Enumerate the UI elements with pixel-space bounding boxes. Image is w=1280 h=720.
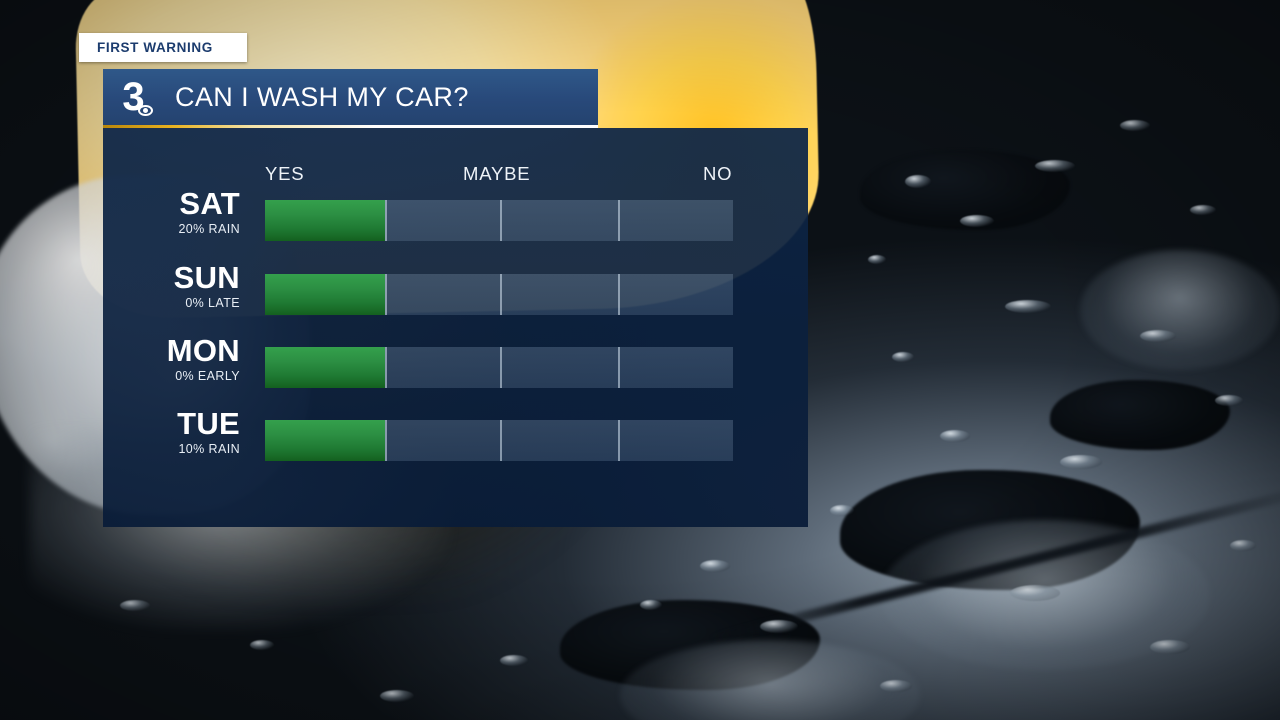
day-label: SUN 0% LATE bbox=[103, 262, 240, 310]
day-name: MON bbox=[103, 335, 240, 366]
page-title: CAN I WASH MY CAR? bbox=[175, 82, 469, 113]
day-label: SAT 20% RAIN bbox=[103, 188, 240, 236]
answer-bar-yes bbox=[265, 200, 385, 241]
column-divider bbox=[500, 274, 502, 315]
day-name: TUE bbox=[103, 408, 240, 439]
forecast-row: MON 0% EARLY bbox=[103, 347, 808, 388]
forecast-panel: YES MAYBE NO SAT 20% RAIN SUN 0% LATE bbox=[103, 128, 808, 527]
first-warning-label: FIRST WARNING bbox=[97, 40, 213, 55]
column-divider bbox=[618, 200, 620, 241]
answer-track bbox=[265, 274, 733, 315]
day-detail: 10% RAIN bbox=[103, 442, 240, 456]
column-divider bbox=[385, 420, 387, 461]
column-divider bbox=[618, 274, 620, 315]
forecast-row: SUN 0% LATE bbox=[103, 274, 808, 315]
answer-track bbox=[265, 347, 733, 388]
column-divider bbox=[385, 347, 387, 388]
answer-bar-yes bbox=[265, 274, 385, 315]
day-detail: 0% EARLY bbox=[103, 369, 240, 383]
answer-track bbox=[265, 420, 733, 461]
forecast-row: SAT 20% RAIN bbox=[103, 200, 808, 241]
day-detail: 20% RAIN bbox=[103, 222, 240, 236]
column-divider bbox=[500, 420, 502, 461]
column-divider bbox=[618, 347, 620, 388]
channel-3-logo: 3 bbox=[103, 69, 159, 125]
column-divider bbox=[500, 347, 502, 388]
cbs-eye-icon bbox=[138, 105, 153, 116]
column-divider bbox=[500, 200, 502, 241]
answer-track bbox=[265, 200, 733, 241]
answer-bar-yes bbox=[265, 420, 385, 461]
first-warning-badge: FIRST WARNING bbox=[79, 33, 247, 62]
column-header-no: NO bbox=[703, 163, 732, 185]
title-bar: 3 CAN I WASH MY CAR? bbox=[103, 69, 598, 125]
day-detail: 0% LATE bbox=[103, 296, 240, 310]
day-label: TUE 10% RAIN bbox=[103, 408, 240, 456]
column-header-yes: YES bbox=[265, 163, 304, 185]
day-name: SAT bbox=[103, 188, 240, 219]
day-name: SUN bbox=[103, 262, 240, 293]
column-divider bbox=[385, 200, 387, 241]
forecast-row: TUE 10% RAIN bbox=[103, 420, 808, 461]
column-divider bbox=[385, 274, 387, 315]
day-label: MON 0% EARLY bbox=[103, 335, 240, 383]
column-divider bbox=[618, 420, 620, 461]
column-headers: YES MAYBE NO bbox=[103, 128, 808, 188]
column-header-maybe: MAYBE bbox=[463, 163, 530, 185]
answer-bar-yes bbox=[265, 347, 385, 388]
